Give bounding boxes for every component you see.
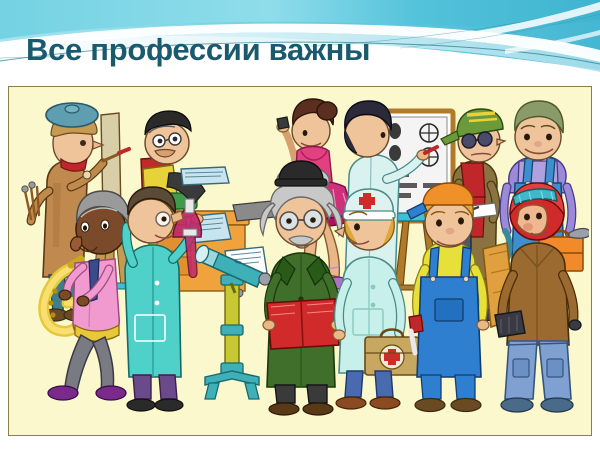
professions-collage-graphic	[9, 87, 589, 433]
page-title: Все профессии важны	[26, 34, 370, 65]
header-wave-banner: Все профессии важны	[0, 0, 600, 84]
professions-illustration-panel	[8, 86, 592, 436]
figure-astronomer	[260, 161, 343, 415]
figure-chemist	[125, 187, 203, 411]
